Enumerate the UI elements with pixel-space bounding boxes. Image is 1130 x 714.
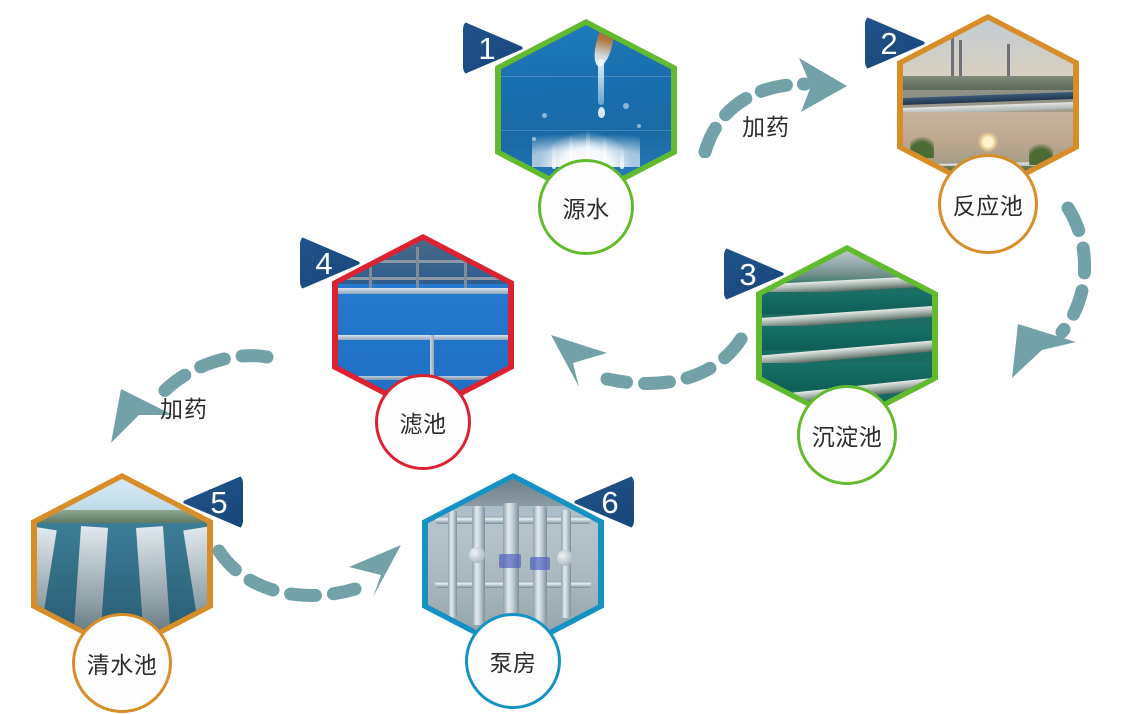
- step-badge-2: 2: [865, 14, 927, 72]
- step-number: 1: [463, 19, 525, 77]
- process-flow-diagram: 1 源水: [0, 0, 1130, 714]
- node-label: 沉淀池: [812, 418, 883, 452]
- node-label-bubble: 源水: [538, 159, 634, 255]
- step-badge-3: 3: [724, 245, 786, 303]
- node-label-bubble: 泵房: [465, 613, 561, 709]
- node-label: 反应池: [953, 187, 1024, 221]
- node-label-bubble: 滤池: [375, 374, 471, 470]
- step-number: 2: [865, 14, 927, 72]
- step-number: 6: [572, 473, 634, 531]
- step-badge-1: 1: [463, 19, 525, 77]
- step-badge-6: 6: [572, 473, 634, 531]
- flow-label-1-to-2: 加药: [742, 108, 790, 142]
- node-label: 泵房: [490, 644, 537, 678]
- flow-label-4-to-5: 加药: [160, 390, 208, 424]
- step-number: 5: [181, 473, 243, 531]
- flow-arrow-5-to-6: [205, 533, 410, 633]
- node-label-bubble: 清水池: [72, 613, 172, 713]
- step-number: 3: [724, 245, 786, 303]
- process-node-6[interactable]: 6 泵房: [422, 473, 604, 678]
- process-node-2[interactable]: 2 反应池: [897, 14, 1079, 219]
- flow-arrow-3-to-4: [545, 325, 755, 415]
- process-node-4[interactable]: 4 滤池: [332, 234, 514, 439]
- node-label-bubble: 沉淀池: [797, 385, 897, 485]
- node-label: 滤池: [400, 405, 447, 439]
- process-node-1[interactable]: 1 源水: [495, 19, 677, 224]
- node-label: 源水: [563, 190, 610, 224]
- process-node-3[interactable]: 3 沉淀池: [756, 245, 938, 450]
- process-node-5[interactable]: 5 清水池: [31, 473, 213, 678]
- step-number: 4: [300, 234, 362, 292]
- node-label-bubble: 反应池: [938, 154, 1038, 254]
- node-label: 清水池: [87, 646, 158, 680]
- step-badge-4: 4: [300, 234, 362, 292]
- step-badge-5: 5: [181, 473, 243, 531]
